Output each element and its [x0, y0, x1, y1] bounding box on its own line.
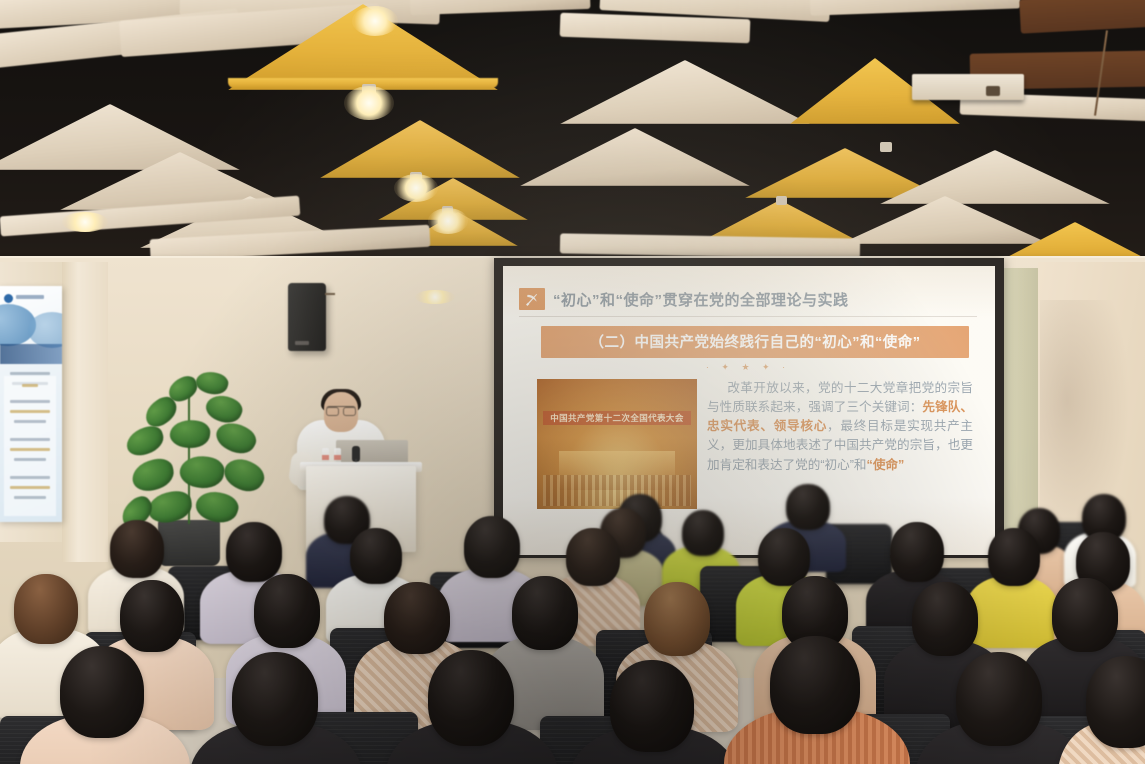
- attendee-head: [464, 516, 520, 578]
- banner-text-line: [14, 458, 46, 461]
- ceiling-light-can: [776, 196, 787, 205]
- attendee-head: [1086, 656, 1145, 748]
- slide-photo-caption: 中国共产党第十二次全国代表大会: [543, 411, 691, 425]
- speaker-bracket: [325, 293, 335, 295]
- attendee-head: [384, 582, 450, 654]
- ceiling-light-can: [368, 10, 382, 22]
- ceiling-baffle-cream: [520, 128, 750, 186]
- slide-title-row: “初心”和“使命”贯穿在党的全部理论与实践: [519, 288, 977, 317]
- ceiling-baffle-cream: [560, 13, 751, 44]
- projector: [912, 74, 1024, 100]
- attendee-head: [120, 580, 184, 652]
- ceiling-light-can: [442, 206, 453, 215]
- attendee-head: [14, 574, 78, 644]
- attendee-shoulders: [966, 576, 1058, 648]
- attendee-head: [682, 510, 724, 556]
- banner-logo-text: [16, 295, 44, 299]
- ceiling-baffle-cream: [560, 233, 860, 258]
- ceiling-baffle-cream: [560, 60, 810, 124]
- banner-decor-blob: [28, 312, 62, 348]
- attendee-head: [786, 484, 830, 530]
- ceiling-light-can: [410, 172, 422, 182]
- banner-text-line: [10, 438, 50, 441]
- banner-section-title: [22, 384, 38, 387]
- attendee-head: [254, 574, 320, 648]
- star-decoration: · ✦ ★ ✦ ·: [706, 362, 790, 372]
- banner-text-line: [10, 410, 50, 413]
- ceiling-baffle-cream: [0, 104, 240, 170]
- ceiling-light-can: [362, 84, 376, 96]
- ceiling-wood-beam: [1019, 0, 1145, 34]
- banner-text-line: [14, 420, 46, 423]
- presenter-glasses-icon: [326, 406, 356, 413]
- attendee-head: [512, 576, 578, 650]
- ceiling-light-can: [880, 142, 892, 152]
- attendee-head: [1052, 578, 1118, 652]
- banner-logo-icon: [4, 294, 13, 303]
- ceiling-baffle-cream: [810, 0, 1021, 16]
- audience: [0, 470, 1145, 764]
- attendee-head: [428, 650, 514, 746]
- attendee-head: [610, 660, 694, 752]
- attendee-head: [988, 528, 1040, 586]
- attendee-head: [226, 522, 282, 582]
- attendee-head: [890, 522, 944, 582]
- attendee-head: [110, 520, 164, 578]
- ceiling-baffle-gold: [378, 178, 528, 220]
- attendee-head: [644, 582, 710, 656]
- attendee-head: [956, 652, 1042, 746]
- banner-text-line: [10, 372, 50, 375]
- banner-headline: [0, 344, 62, 364]
- attendee-head: [350, 528, 402, 584]
- attendee-head: [566, 528, 620, 586]
- ceiling-baffle-cream: [880, 150, 1110, 204]
- projector-lens-icon: [986, 86, 1000, 96]
- hammer-and-sickle-icon: [519, 288, 545, 310]
- banner-text-line: [10, 448, 50, 451]
- ceiling: [0, 0, 1145, 268]
- banner-text-line: [10, 400, 50, 403]
- attendee-head: [912, 582, 978, 656]
- wall-speaker: [288, 283, 326, 351]
- attendee-head: [770, 636, 860, 734]
- attendee-head: [232, 652, 318, 746]
- slide-star-divider: · ✦ ★ ✦ ·: [519, 362, 977, 373]
- attendee-head: [60, 646, 144, 738]
- lecture-hall-photo: “初心”和“使命”贯穿在党的全部理论与实践 （二）中国共产党始终践行自己的“初心…: [0, 0, 1145, 764]
- slide-subtitle-bar: （二）中国共产党始终践行自己的“初心”和“使命”: [541, 326, 969, 358]
- ceiling-baffle-gold: [320, 120, 520, 178]
- slide-title: “初心”和“使命”贯穿在党的全部理论与实践: [553, 289, 849, 310]
